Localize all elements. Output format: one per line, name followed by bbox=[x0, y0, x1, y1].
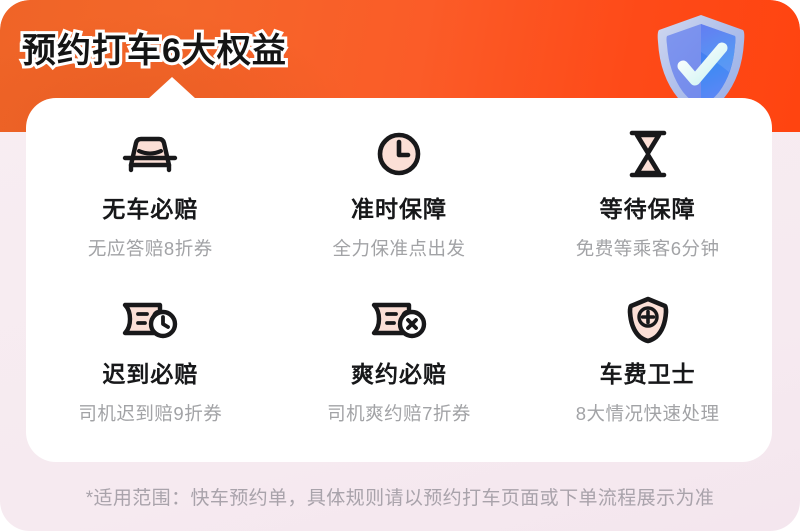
benefit-subtitle: 免费等乘客6分钟 bbox=[576, 235, 720, 261]
benefit-item-waiting[interactable]: 等待保障 免费等乘客6分钟 bbox=[523, 118, 772, 283]
promo-panel: 预约打车6大权益 bbox=[0, 0, 800, 531]
benefit-item-no-show[interactable]: 爽约必赔 司机爽约赔7折券 bbox=[275, 283, 524, 448]
benefit-item-late[interactable]: 迟到必赔 司机迟到赔9折券 bbox=[26, 283, 275, 448]
shield-plus-icon bbox=[623, 293, 673, 345]
benefit-title: 车费卫士 bbox=[600, 355, 696, 389]
benefit-item-fare-guard[interactable]: 车费卫士 8大情况快速处理 bbox=[523, 283, 772, 448]
benefit-subtitle: 8大情况快速处理 bbox=[576, 400, 720, 426]
benefit-title: 等待保障 bbox=[600, 190, 696, 224]
benefit-title: 准时保障 bbox=[351, 190, 447, 224]
benefit-title: 爽约必赔 bbox=[351, 355, 447, 389]
benefit-subtitle: 司机迟到赔9折券 bbox=[78, 400, 222, 426]
benefit-title: 迟到必赔 bbox=[102, 355, 198, 389]
ticket-clock-icon bbox=[118, 293, 182, 345]
clock-icon bbox=[373, 128, 425, 180]
benefit-item-on-time[interactable]: 准时保障 全力保准点出发 bbox=[275, 118, 524, 283]
footer-disclaimer: *适用范围：快车预约单，具体规则请以预约打车页面或下单流程展示为准 bbox=[0, 462, 800, 531]
ticket-cross-icon bbox=[367, 293, 431, 345]
benefit-subtitle: 司机爽约赔7折券 bbox=[327, 400, 471, 426]
benefit-title: 无车必赔 bbox=[102, 190, 198, 224]
benefit-item-no-car[interactable]: 无车必赔 无应答赔8折券 bbox=[26, 118, 275, 283]
benefit-subtitle: 全力保准点出发 bbox=[332, 235, 465, 261]
benefits-card: 无车必赔 无应答赔8折券 准时保障 全力保准点出发 bbox=[26, 98, 772, 462]
card-notch bbox=[148, 77, 196, 99]
disclaimer-text: *适用范围：快车预约单，具体规则请以预约打车页面或下单流程展示为准 bbox=[86, 483, 715, 510]
car-front-icon bbox=[117, 128, 183, 180]
hourglass-icon bbox=[624, 128, 672, 180]
page-title: 预约打车6大权益 bbox=[22, 23, 287, 72]
benefit-subtitle: 无应答赔8折券 bbox=[88, 235, 213, 261]
benefits-grid: 无车必赔 无应答赔8折券 准时保障 全力保准点出发 bbox=[26, 118, 772, 448]
